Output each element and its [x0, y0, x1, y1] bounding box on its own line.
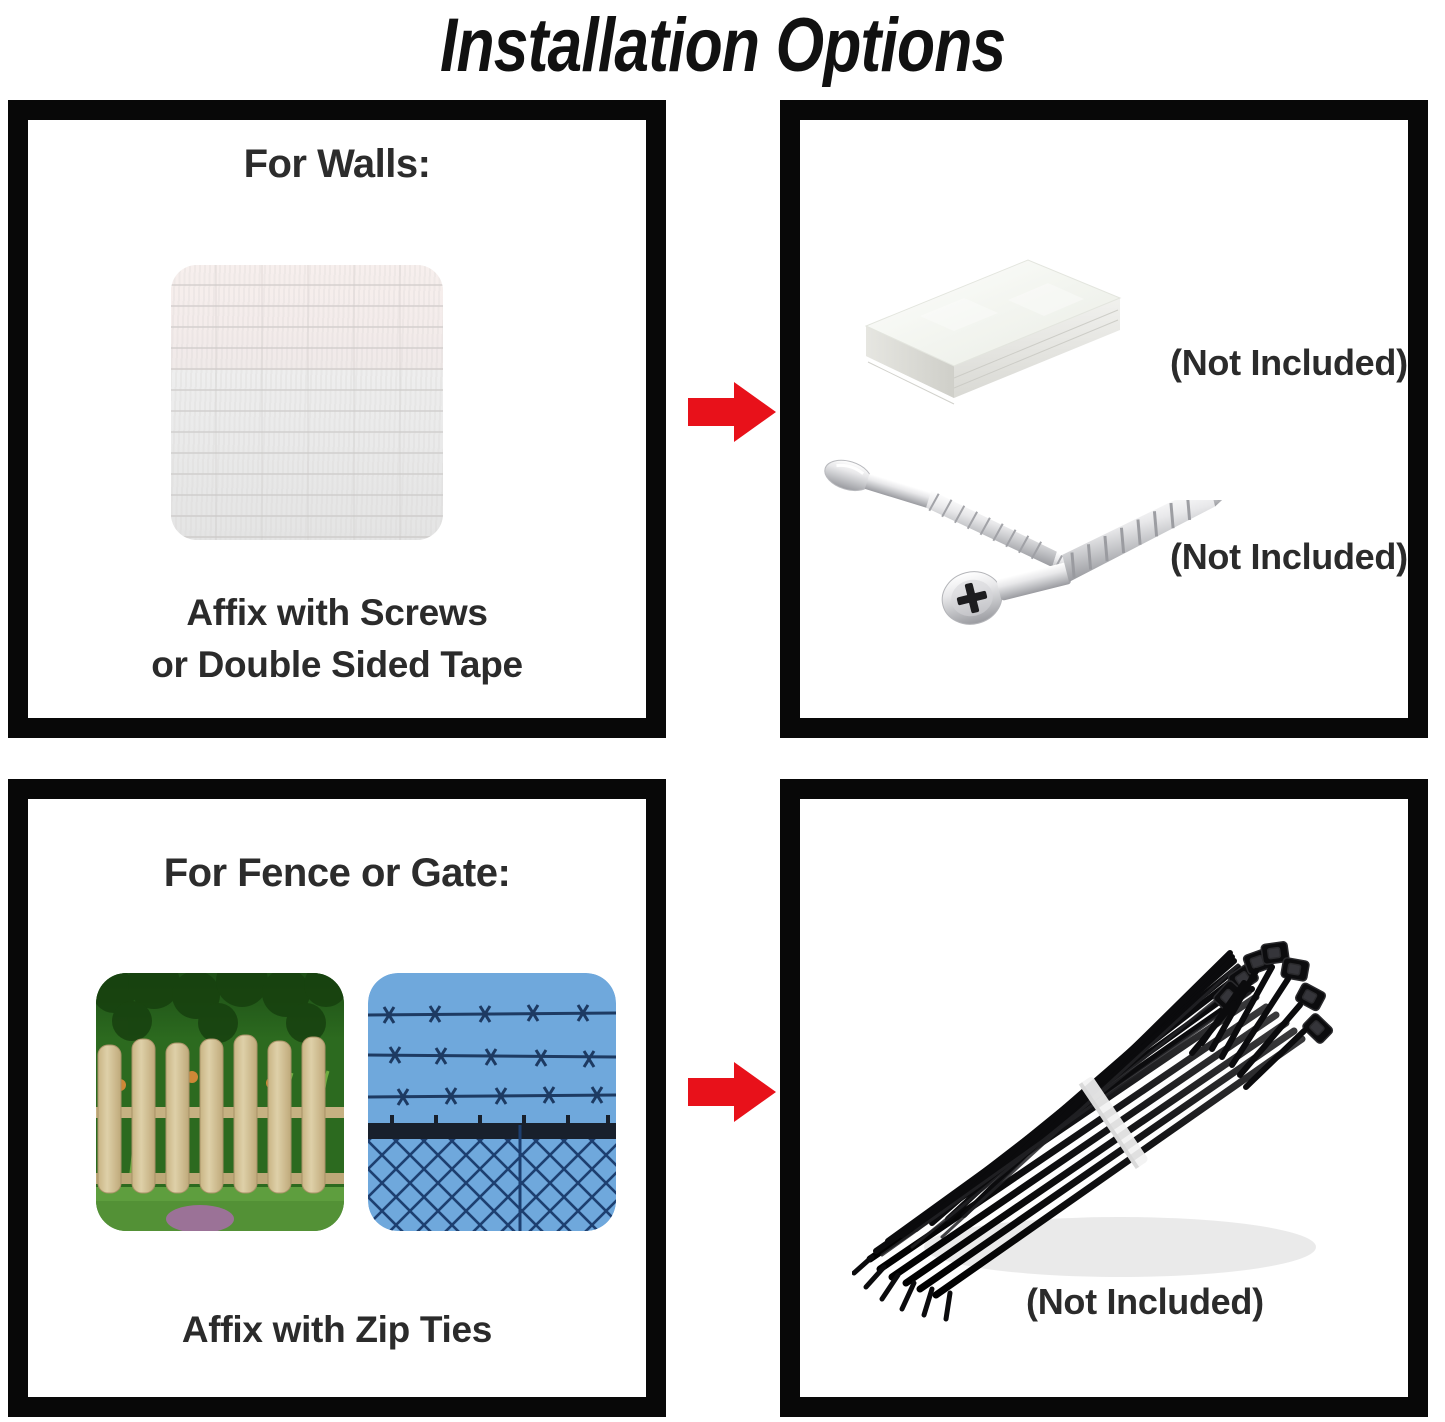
panel-zip-ties-inner: (Not Included): [800, 799, 1408, 1397]
for-fence-heading: For Fence or Gate:: [28, 851, 646, 896]
chain-link-barbed-wire-fence-image: [368, 973, 616, 1231]
panel-zip-ties: (Not Included): [780, 779, 1428, 1417]
screws-not-included-label: (Not Included): [1170, 536, 1408, 578]
for-walls-heading: For Walls:: [28, 142, 646, 187]
zipties-not-included-label: (Not Included): [1026, 1281, 1264, 1323]
black-zip-tie-bundle-image: [852, 911, 1372, 1331]
panel-for-fence-inner: For Fence or Gate:: [28, 799, 646, 1397]
panel-for-walls: For Walls: Affix with Screws or Double S…: [8, 100, 666, 738]
walls-caption-line-1: Affix with Screws: [28, 592, 646, 634]
page-title: Installation Options: [440, 6, 1005, 86]
double-sided-tape-stack-image: [858, 238, 1126, 424]
fence-caption-line-1: Affix with Zip Ties: [28, 1309, 646, 1351]
panel-wall-hardware-inner: (Not Included): [800, 120, 1408, 718]
red-right-arrow-icon: [686, 1058, 778, 1126]
panel-for-fence-or-gate: For Fence or Gate:: [8, 779, 666, 1417]
title-bar: Installation Options: [0, 0, 1445, 92]
walls-caption-line-2: or Double Sided Tape: [28, 644, 646, 686]
panel-for-walls-inner: For Walls: Affix with Screws or Double S…: [28, 120, 646, 718]
tape-not-included-label: (Not Included): [1170, 342, 1408, 384]
wooden-picket-fence-image: [96, 973, 344, 1231]
white-brick-wall-image: [171, 265, 443, 540]
panel-wall-hardware: (Not Included): [780, 100, 1428, 738]
brick-grain-texture: [171, 265, 443, 540]
red-right-arrow-icon: [686, 378, 778, 446]
